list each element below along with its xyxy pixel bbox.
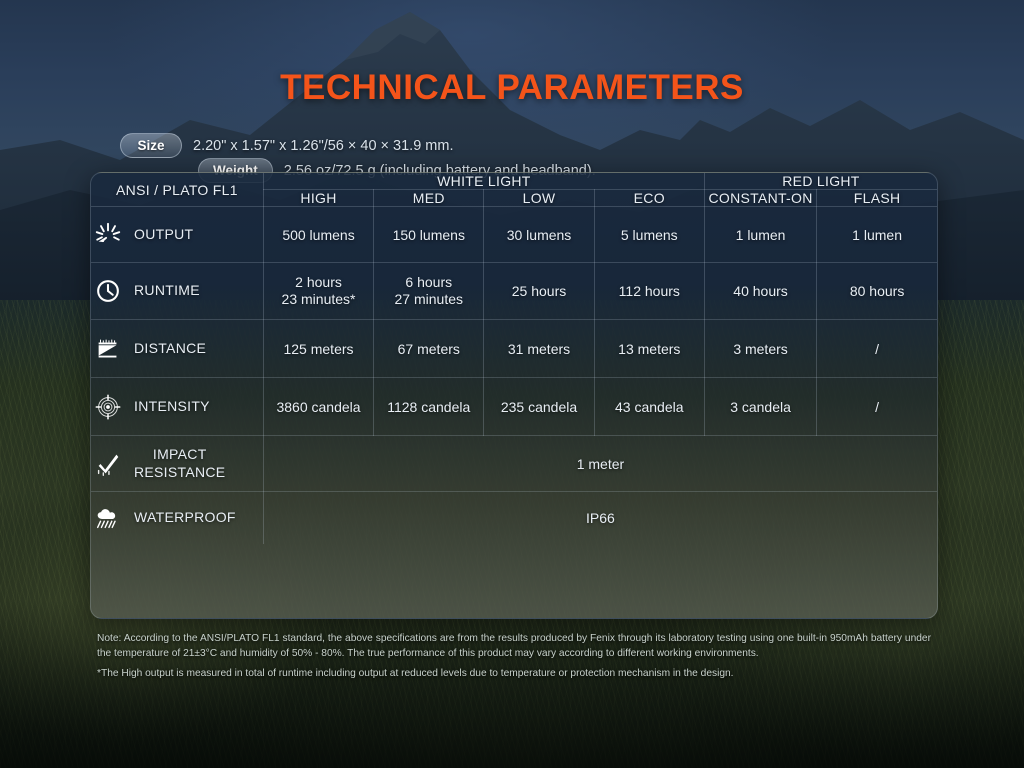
cell-runtime-eco: 112 hours	[594, 263, 704, 320]
cell-distance-flash: /	[817, 320, 937, 378]
row-label-output: OUTPUT	[91, 207, 263, 263]
rain-cloud-icon	[93, 503, 123, 533]
size-group: Size2.20" x 1.57" x 1.26"/56 × 40 × 31.9…	[120, 133, 454, 158]
footnote-block: Note: According to the ANSI/PLATO FL1 st…	[97, 632, 931, 682]
table-group-row: ANSI / PLATO FL1 WHITE LIGHT RED LIGHT	[91, 173, 937, 190]
beam-distance-icon	[93, 334, 123, 364]
table-row: WATERPROOF IP66	[91, 492, 937, 544]
cell-runtime-flash: 80 hours	[817, 263, 937, 320]
cell-intensity-med: 1128 candela	[374, 378, 484, 436]
row-label-impact-resistance: IMPACTRESISTANCE	[91, 436, 263, 492]
cell-output-med: 150 lumens	[374, 207, 484, 263]
table-row: OUTPUT 500 lumens 150 lumens 30 lumens 5…	[91, 207, 937, 263]
cell-runtime-low: 25 hours	[484, 263, 594, 320]
cell-distance-low: 31 meters	[484, 320, 594, 378]
table-row: RUNTIME 2 hours23 minutes* 6 hours27 min…	[91, 263, 937, 320]
row-label-text: DISTANCE	[134, 341, 206, 357]
cell-impact-resistance-value: 1 meter	[263, 436, 937, 492]
table-head: ANSI / PLATO FL1 WHITE LIGHT RED LIGHT H…	[91, 173, 937, 207]
table-row: INTENSITY 3860 candela 1128 candela 235 …	[91, 378, 937, 436]
cell-output-flash: 1 lumen	[817, 207, 937, 263]
cell-intensity-constant-on: 3 candela	[704, 378, 816, 436]
cell-runtime-constant-on: 40 hours	[704, 263, 816, 320]
row-label-text: INTENSITY	[134, 399, 210, 415]
grass-vignette	[0, 600, 1024, 768]
page-title: TECHNICAL PARAMETERS	[0, 68, 1024, 108]
row-label-text: WATERPROOF	[134, 510, 236, 526]
cell-output-constant-on: 1 lumen	[704, 207, 816, 263]
cell-intensity-flash: /	[817, 378, 937, 436]
cell-runtime-med: 6 hours27 minutes	[374, 263, 484, 320]
cell-distance-med: 67 meters	[374, 320, 484, 378]
footnote-main: Note: According to the ANSI/PLATO FL1 st…	[97, 632, 931, 661]
cell-output-high: 500 lumens	[263, 207, 373, 263]
cell-intensity-eco: 43 candela	[594, 378, 704, 436]
spec-table-card: ANSI / PLATO FL1 WHITE LIGHT RED LIGHT H…	[90, 172, 938, 619]
size-pill: Size	[120, 133, 182, 158]
ansi-plato-header: ANSI / PLATO FL1	[91, 173, 263, 207]
table-row: DISTANCE 125 meters 67 meters 31 meters …	[91, 320, 937, 378]
size-weight-strip: Size2.20" x 1.57" x 1.26"/56 × 40 × 31.9…	[120, 133, 920, 159]
footnote-star: *The High output is measured in total of…	[97, 667, 931, 682]
impact-check-icon	[93, 449, 123, 479]
group-header-white-light: WHITE LIGHT	[263, 173, 704, 190]
mode-header-constant-on: CONSTANT-ON	[704, 190, 816, 207]
mode-header-eco: ECO	[594, 190, 704, 207]
cell-waterproof-value: IP66	[263, 492, 937, 544]
cell-runtime-high: 2 hours23 minutes*	[263, 263, 373, 320]
row-label-text: OUTPUT	[134, 227, 193, 243]
cell-distance-constant-on: 3 meters	[704, 320, 816, 378]
mode-header-high: HIGH	[263, 190, 373, 207]
cell-intensity-high: 3860 candela	[263, 378, 373, 436]
group-header-red-light: RED LIGHT	[704, 173, 937, 190]
mode-header-flash: FLASH	[817, 190, 937, 207]
row-label-intensity: INTENSITY	[91, 378, 263, 436]
size-value: 2.20" x 1.57" x 1.26"/56 × 40 × 31.9 mm.	[193, 138, 454, 154]
target-intensity-icon	[93, 392, 123, 422]
row-label-distance: DISTANCE	[91, 320, 263, 378]
sun-burst-icon	[93, 220, 123, 250]
cell-output-low: 30 lumens	[484, 207, 594, 263]
row-label-text: RUNTIME	[134, 283, 200, 299]
row-label-runtime: RUNTIME	[91, 263, 263, 320]
row-label-waterproof: WATERPROOF	[91, 492, 263, 544]
table-row: IMPACTRESISTANCE 1 meter	[91, 436, 937, 492]
technical-parameters-page: TECHNICAL PARAMETERS Size2.20" x 1.57" x…	[0, 0, 1024, 768]
clock-icon	[93, 276, 123, 306]
row-label-text: IMPACTRESISTANCE	[134, 446, 225, 481]
cell-intensity-low: 235 candela	[484, 378, 594, 436]
mode-header-med: MED	[374, 190, 484, 207]
table-body: OUTPUT 500 lumens 150 lumens 30 lumens 5…	[91, 207, 937, 544]
cell-output-eco: 5 lumens	[594, 207, 704, 263]
cell-distance-eco: 13 meters	[594, 320, 704, 378]
spec-table: ANSI / PLATO FL1 WHITE LIGHT RED LIGHT H…	[91, 173, 937, 544]
mode-header-low: LOW	[484, 190, 594, 207]
cell-distance-high: 125 meters	[263, 320, 373, 378]
